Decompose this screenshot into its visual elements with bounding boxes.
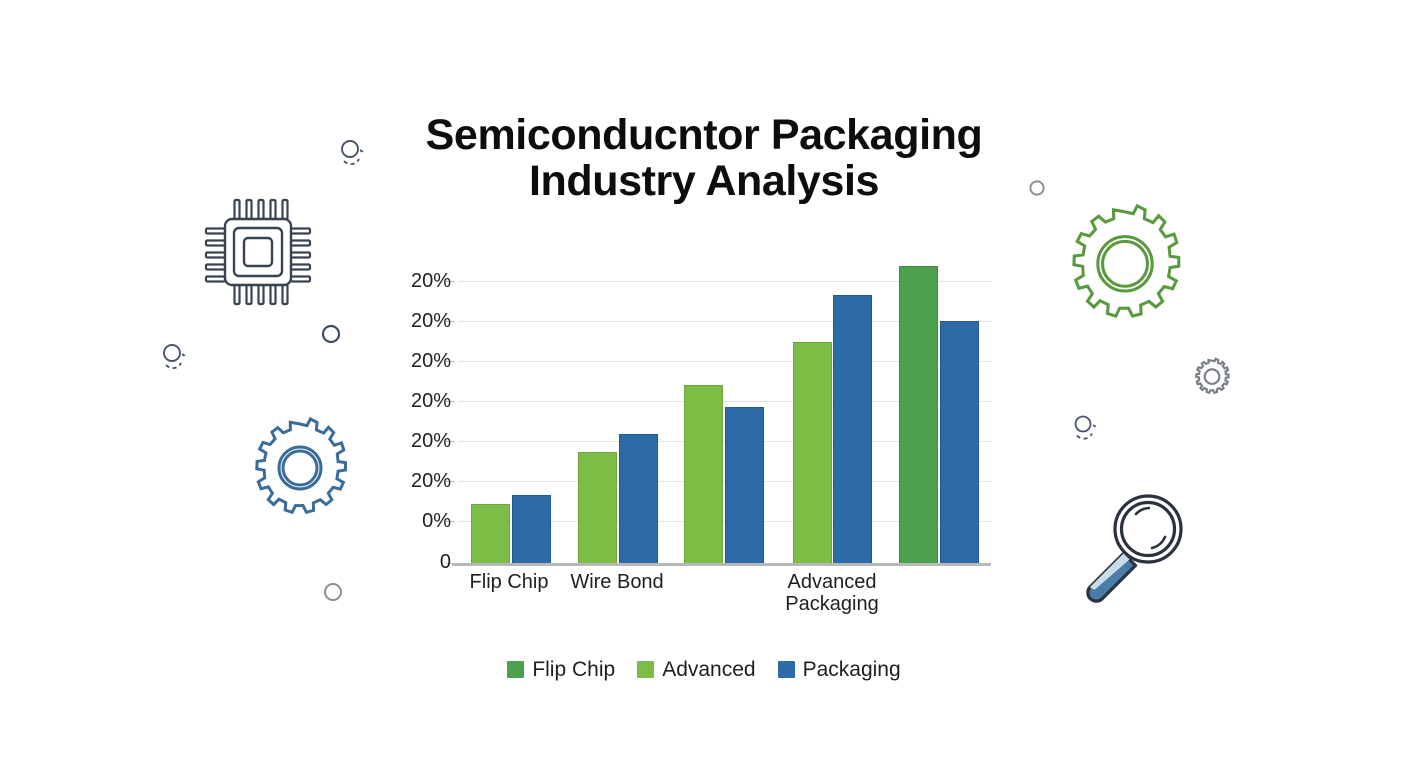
legend-swatch-icon (778, 661, 795, 678)
legend-swatch-icon (637, 661, 654, 678)
chart-legend: Flip Chip Advanced Packaging (0, 659, 1408, 680)
bar-packaging-4[interactable] (833, 295, 872, 564)
y-tick-label: 20% (385, 271, 451, 291)
y-tick-label: 20% (385, 391, 451, 411)
y-axis: 20% 20% 20% 20% 20% 20% 0% 0 (386, 0, 452, 768)
bar-advanced-3[interactable] (684, 385, 723, 564)
legend-item-advanced[interactable]: Advanced (637, 659, 755, 680)
bar-advanced-4[interactable] (793, 342, 832, 564)
slide-canvas: Semiconducntor Packaging Industry Analys… (0, 0, 1408, 768)
bar-advanced-2[interactable] (578, 452, 617, 564)
legend-item-packaging[interactable]: Packaging (778, 659, 901, 680)
legend-label: Advanced (662, 659, 755, 680)
y-tick-label: 0% (385, 511, 451, 531)
bar-flip-chip-5[interactable] (899, 266, 938, 564)
bar-chart: 20% 20% 20% 20% 20% 20% 0% 0 Flip Chip W… (0, 0, 1408, 768)
legend-item-flip-chip[interactable]: Flip Chip (507, 659, 615, 680)
legend-label: Flip Chip (532, 659, 615, 680)
legend-label: Packaging (803, 659, 901, 680)
bar-advanced-1[interactable] (471, 504, 510, 564)
bar-packaging-1[interactable] (512, 495, 551, 564)
y-tick-label: 20% (385, 351, 451, 371)
bar-packaging-2[interactable] (619, 434, 658, 564)
y-tick-label: 20% (385, 471, 451, 491)
y-tick-label: 0 (385, 552, 451, 572)
y-tick-label: 20% (385, 311, 451, 331)
x-axis-line (452, 563, 991, 566)
x-category-label-2: Wire Bond (547, 571, 687, 593)
y-tick-label: 20% (385, 431, 451, 451)
x-category-label-4: Advanced Packaging (762, 571, 902, 615)
bar-packaging-3[interactable] (725, 407, 764, 564)
legend-swatch-icon (507, 661, 524, 678)
bar-packaging-5[interactable] (940, 321, 979, 564)
